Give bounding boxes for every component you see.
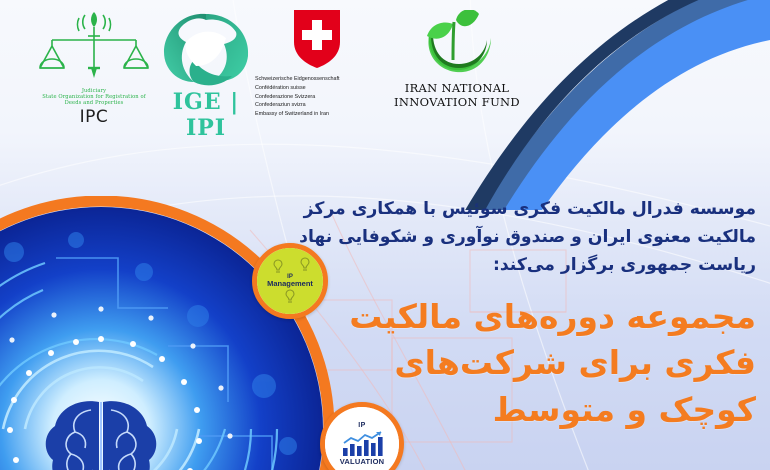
logo-fund-line-2: INNOVATION FUND — [382, 95, 532, 109]
badge-ip-valuation-line2: VALUATION — [340, 458, 384, 466]
mobius-triangle-icon — [156, 8, 256, 88]
logo-swiss-embassy: Schweizerische Eidgenossenschaft Confédé… — [252, 6, 382, 119]
logo-ige-ipi: IGE | IPI — [150, 6, 262, 141]
headline-line-1: مجموعه دوره‌های مالکیت — [286, 294, 756, 341]
logo-swiss-line-5: Embassy of Switzerland in Iran — [255, 110, 382, 119]
poster-root: Judiciary State Organization for Registr… — [0, 0, 770, 470]
logo-ige-acronym: IGE | IPI — [150, 89, 262, 141]
swiss-shield-icon — [290, 8, 344, 70]
headline-line-3: کوچک و متوسط — [286, 387, 756, 434]
blue-tech-circle — [0, 196, 334, 470]
logo-swiss-line-1: Schweizerische Eidgenossenschaft — [255, 75, 382, 84]
page-title: مجموعه دوره‌های مالکیت فکری برای شرکت‌ها… — [286, 294, 756, 435]
logo-swiss-line-4: Confederaziun svizra — [255, 101, 382, 110]
logo-swiss-line-2: Confédération suisse — [255, 84, 382, 93]
logo-ipc-acronym: IPC — [28, 107, 160, 127]
logo-header: Judiciary State Organization for Registr… — [0, 0, 770, 140]
scales-of-justice-icon — [28, 6, 160, 82]
sprout-leaf-icon — [409, 10, 505, 78]
logo-ipc-line-3: Deeds and Properties — [28, 100, 160, 106]
logo-innovation-fund: IRAN NATIONAL INNOVATION FUND — [382, 6, 532, 110]
headline-line-2: فکری برای شرکت‌های — [286, 340, 756, 387]
poster-text-block: موسسه فدرال مالکیت فکری سوئیس با همکاری … — [286, 196, 756, 434]
intro-paragraph: موسسه فدرال مالکیت فکری سوئیس با همکاری … — [286, 196, 756, 280]
logo-fund-line-1: IRAN NATIONAL — [382, 81, 532, 95]
bar-chart-growth-icon — [340, 431, 384, 457]
logo-swiss-line-3: Confederazione Svizzera — [255, 93, 382, 102]
logo-ipc: Judiciary State Organization for Registr… — [28, 6, 160, 127]
